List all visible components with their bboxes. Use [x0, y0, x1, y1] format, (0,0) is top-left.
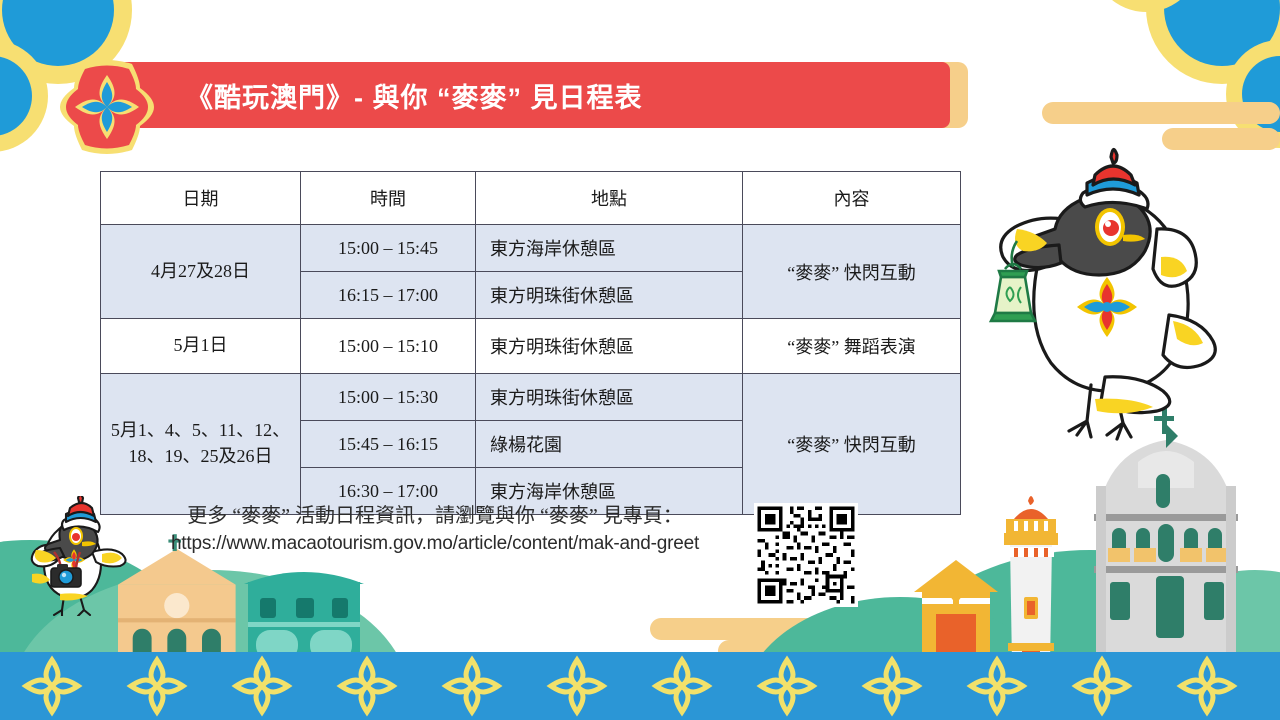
bottom-banner: [0, 652, 1280, 720]
cell-place: 東方明珠街休憩區: [476, 374, 743, 421]
spoonbill-mascot-with-lantern-icon: [955, 135, 1245, 455]
column-header-time: 時間: [301, 172, 476, 225]
cell-time: 15:00 – 15:10: [301, 319, 476, 374]
page-title: 《酷玩澳門》- 與你 “麥麥” 見日程表: [186, 76, 643, 115]
table-row: 5月1日 15:00 – 15:10 東方明珠街休憩區 “麥麥” 舞蹈表演: [101, 319, 961, 374]
lotus-medallion-icon: [54, 58, 160, 156]
schedule-table-body: 4月27及28日 15:00 – 15:45 東方海岸休憩區 “麥麥” 快閃互動…: [101, 225, 961, 515]
column-header-content: 內容: [743, 172, 961, 225]
qr-code[interactable]: [754, 503, 858, 607]
poster-canvas: 《酷玩澳門》- 與你 “麥麥” 見日程表: [0, 0, 1280, 720]
cell-place: 東方海岸休憩區: [476, 225, 743, 272]
column-header-date: 日期: [101, 172, 301, 225]
cell-time: 15:00 – 15:45: [301, 225, 476, 272]
cell-content: “麥麥” 快閃互動: [743, 374, 961, 515]
cell-time: 15:00 – 15:30: [301, 374, 476, 421]
schedule-table-container: 日期 時間 地點 內容 4月27及28日 15:00 – 15:45 東方海岸休…: [100, 171, 960, 515]
cell-content: “麥麥” 舞蹈表演: [743, 319, 961, 374]
cell-date: 5月1日: [101, 319, 301, 374]
cell-place: 東方明珠街休憩區: [476, 272, 743, 319]
table-header-row: 日期 時間 地點 內容: [101, 172, 961, 225]
cell-time: 15:45 – 16:15: [301, 421, 476, 468]
column-header-place: 地點: [476, 172, 743, 225]
cell-time: 16:15 – 17:00: [301, 272, 476, 319]
guia-lighthouse-icon: [1004, 496, 1058, 673]
cell-date: 5月1、4、5、11、12、18、19、25及26日: [101, 374, 301, 515]
cell-date: 4月27及28日: [101, 225, 301, 319]
title-banner: 《酷玩澳門》- 與你 “麥麥” 見日程表: [108, 62, 950, 128]
corner-petals-top-right: [1092, 0, 1280, 148]
table-row: 4月27及28日 15:00 – 15:45 東方海岸休憩區 “麥麥” 快閃互動: [101, 225, 961, 272]
cloud-bar-bottom-left: [0, 624, 290, 644]
cell-place: 東方明珠街休憩區: [476, 319, 743, 374]
schedule-table: 日期 時間 地點 內容 4月27及28日 15:00 – 15:45 東方海岸休…: [100, 171, 961, 515]
cell-place: 綠楊花園: [476, 421, 743, 468]
cell-content: “麥麥” 快閃互動: [743, 225, 961, 319]
footer-url[interactable]: https://www.macaotourism.gov.mo/article/…: [120, 530, 750, 559]
footer-note-text: 更多 “麥麥” 活動日程資訊，請瀏覽與你 “麥麥” 見專頁：: [120, 502, 750, 530]
footer-note: 更多 “麥麥” 活動日程資訊，請瀏覽與你 “麥麥” 見專頁： https://w…: [120, 502, 750, 559]
table-row: 5月1、4、5、11、12、18、19、25及26日 15:00 – 15:30…: [101, 374, 961, 421]
